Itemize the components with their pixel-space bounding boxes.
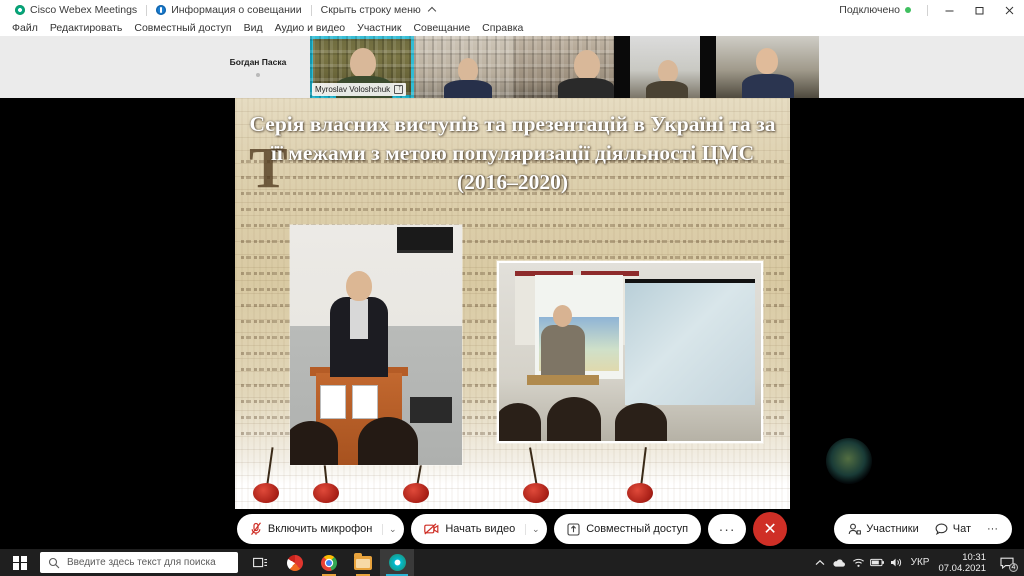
taskbar-app-webex-teams[interactable] — [278, 549, 312, 576]
webex-teams-icon — [287, 555, 303, 571]
chat-panel-button[interactable]: Чат — [927, 523, 979, 535]
share-screen-icon — [567, 523, 580, 536]
divider — [927, 5, 928, 16]
more-options-button[interactable]: ··· — [708, 514, 746, 544]
chrome-icon — [321, 555, 337, 571]
start-button[interactable] — [0, 549, 40, 576]
webex-logo-icon — [15, 5, 25, 15]
menu-item-file[interactable]: Файл — [6, 22, 44, 34]
leave-meeting-button[interactable]: ✕ — [753, 512, 787, 546]
menu-item-participant[interactable]: Участник — [351, 22, 407, 34]
shared-content-stage: T Серія власних виступів та презентацій … — [0, 98, 1024, 509]
info-icon — [156, 5, 166, 15]
battery-icon — [870, 558, 885, 567]
menu-item-share[interactable]: Совместный доступ — [128, 22, 237, 34]
minimize-button[interactable] — [934, 0, 964, 20]
panels-more-button[interactable]: ··· — [979, 523, 1006, 535]
strip-left-padding — [0, 36, 206, 98]
chat-bubble-icon — [935, 523, 948, 535]
taskbar-search-placeholder: Введите здесь текст для поиска — [67, 557, 216, 568]
language-indicator[interactable]: УКР — [906, 557, 935, 568]
clock[interactable]: 10:31 07.04.2021 — [934, 552, 994, 574]
share-content-button[interactable]: Совместный доступ — [554, 514, 701, 544]
windows-logo-icon — [13, 556, 27, 570]
pin-video-icon[interactable] — [394, 85, 403, 94]
participant-name-bogdan: Богдан Паска — [230, 57, 287, 67]
taskbar-app-chrome[interactable] — [312, 549, 346, 576]
slide-photo-presentation — [497, 261, 763, 443]
control-buttons-group: Включить микрофон ⌄ Начать видео ⌄ С — [237, 512, 787, 546]
search-icon — [48, 557, 60, 569]
participants-icon — [848, 523, 861, 535]
participant-tile-active[interactable]: Myroslav Voloshchuk — [310, 36, 414, 98]
menu-item-edit[interactable]: Редактировать — [44, 22, 129, 34]
mute-indicator-icon — [256, 73, 260, 77]
onedrive-tray-button[interactable] — [830, 549, 849, 576]
right-control-group: Участники Чат ··· — [834, 514, 1012, 544]
webex-watermark-icon — [826, 438, 872, 484]
meeting-control-bar: Включить микрофон ⌄ Начать видео ⌄ С — [0, 509, 1024, 549]
video-options-caret[interactable]: ⌄ — [525, 524, 541, 535]
taskbar-app-icons — [244, 549, 414, 576]
hide-menu-button[interactable]: Скрыть строку меню — [312, 4, 444, 16]
hide-menu-label: Скрыть строку меню — [321, 4, 421, 16]
battery-tray-button[interactable] — [868, 549, 887, 576]
windows-taskbar: Введите здесь текст для поиска — [0, 549, 1024, 576]
menu-item-view[interactable]: Вид — [238, 22, 269, 34]
share-content-label: Совместный доступ — [586, 523, 688, 535]
chevron-up-icon — [815, 559, 825, 567]
connection-status-dot-icon — [905, 7, 911, 13]
participants-panel-label: Участники — [866, 523, 919, 535]
show-hidden-icons-button[interactable] — [811, 549, 830, 576]
meeting-info-button[interactable]: Информация о совещании — [147, 4, 310, 16]
speaker-icon — [890, 557, 903, 568]
participants-panel-button[interactable]: Участники — [840, 523, 927, 535]
meeting-info-label: Информация о совещании — [171, 4, 301, 16]
taskbar-search-input[interactable]: Введите здесь текст для поиска — [40, 552, 238, 573]
start-video-label: Начать видео — [445, 523, 515, 535]
unmute-microphone-label: Включить микрофон — [268, 523, 372, 535]
menu-item-audiovideo[interactable]: Аудио и видео — [269, 22, 352, 34]
cloud-icon — [832, 558, 846, 568]
participant-tile-2[interactable] — [414, 36, 514, 98]
system-tray: УКР 10:31 07.04.2021 4 — [811, 549, 1024, 576]
taskbar-app-webex-meetings[interactable] — [380, 549, 414, 576]
notification-center-button[interactable]: 4 — [994, 549, 1020, 576]
task-view-icon — [253, 556, 270, 569]
connection-status-label: Подключено — [839, 4, 900, 16]
webex-meetings-icon — [389, 554, 406, 571]
network-tray-button[interactable] — [849, 549, 868, 576]
app-title: Cisco Webex Meetings — [6, 4, 146, 16]
app-title-label: Cisco Webex Meetings — [30, 4, 137, 16]
participant-tile-3[interactable] — [514, 36, 614, 98]
presentation-slide[interactable]: T Серія власних виступів та презентацій … — [235, 98, 790, 509]
microphone-muted-icon — [250, 522, 262, 536]
participant-tile-4[interactable] — [614, 36, 716, 98]
participants-video-strip: Богдан Паска Myroslav Voloshchuk — [0, 36, 1024, 98]
clock-date: 07.04.2021 — [938, 563, 986, 574]
file-explorer-icon — [354, 556, 372, 570]
task-view-button[interactable] — [244, 549, 278, 576]
clock-time: 10:31 — [938, 552, 986, 563]
chat-panel-label: Чат — [953, 523, 971, 535]
wifi-icon — [852, 557, 865, 568]
menu-item-meeting[interactable]: Совещание — [407, 22, 476, 34]
slide-photo-lecture — [290, 225, 462, 465]
participant-tile-5[interactable] — [716, 36, 819, 98]
taskbar-app-file-explorer[interactable] — [346, 549, 380, 576]
webex-meeting-window: Cisco Webex Meetings Информация о совеща… — [0, 0, 1024, 576]
microphone-options-caret[interactable]: ⌄ — [382, 524, 398, 535]
start-video-button[interactable]: Начать видео ⌄ — [411, 514, 547, 544]
volume-tray-button[interactable] — [887, 549, 906, 576]
menu-item-help[interactable]: Справка — [476, 22, 529, 34]
participant-tile-avatar[interactable]: Богдан Паска — [206, 36, 310, 98]
active-speaker-name-tag: Myroslav Voloshchuk — [312, 83, 406, 96]
title-bar: Cisco Webex Meetings Информация о совеща… — [0, 0, 1024, 20]
chevron-up-icon — [428, 6, 436, 14]
camera-muted-icon — [424, 523, 439, 535]
active-speaker-label: Myroslav Voloshchuk — [315, 84, 390, 95]
title-bar-left: Cisco Webex Meetings Информация о совеща… — [0, 4, 444, 16]
close-button[interactable] — [994, 0, 1024, 20]
slide-title: Серія власних виступів та презентацій в … — [249, 110, 776, 197]
menu-bar: Файл Редактировать Совместный доступ Вид… — [0, 20, 1024, 36]
connection-status: Подключено — [839, 4, 921, 16]
title-bar-right: Подключено — [839, 0, 1024, 20]
unmute-microphone-button[interactable]: Включить микрофон ⌄ — [237, 514, 404, 544]
maximize-button[interactable] — [964, 0, 994, 20]
notification-count-badge: 4 — [1009, 563, 1018, 572]
